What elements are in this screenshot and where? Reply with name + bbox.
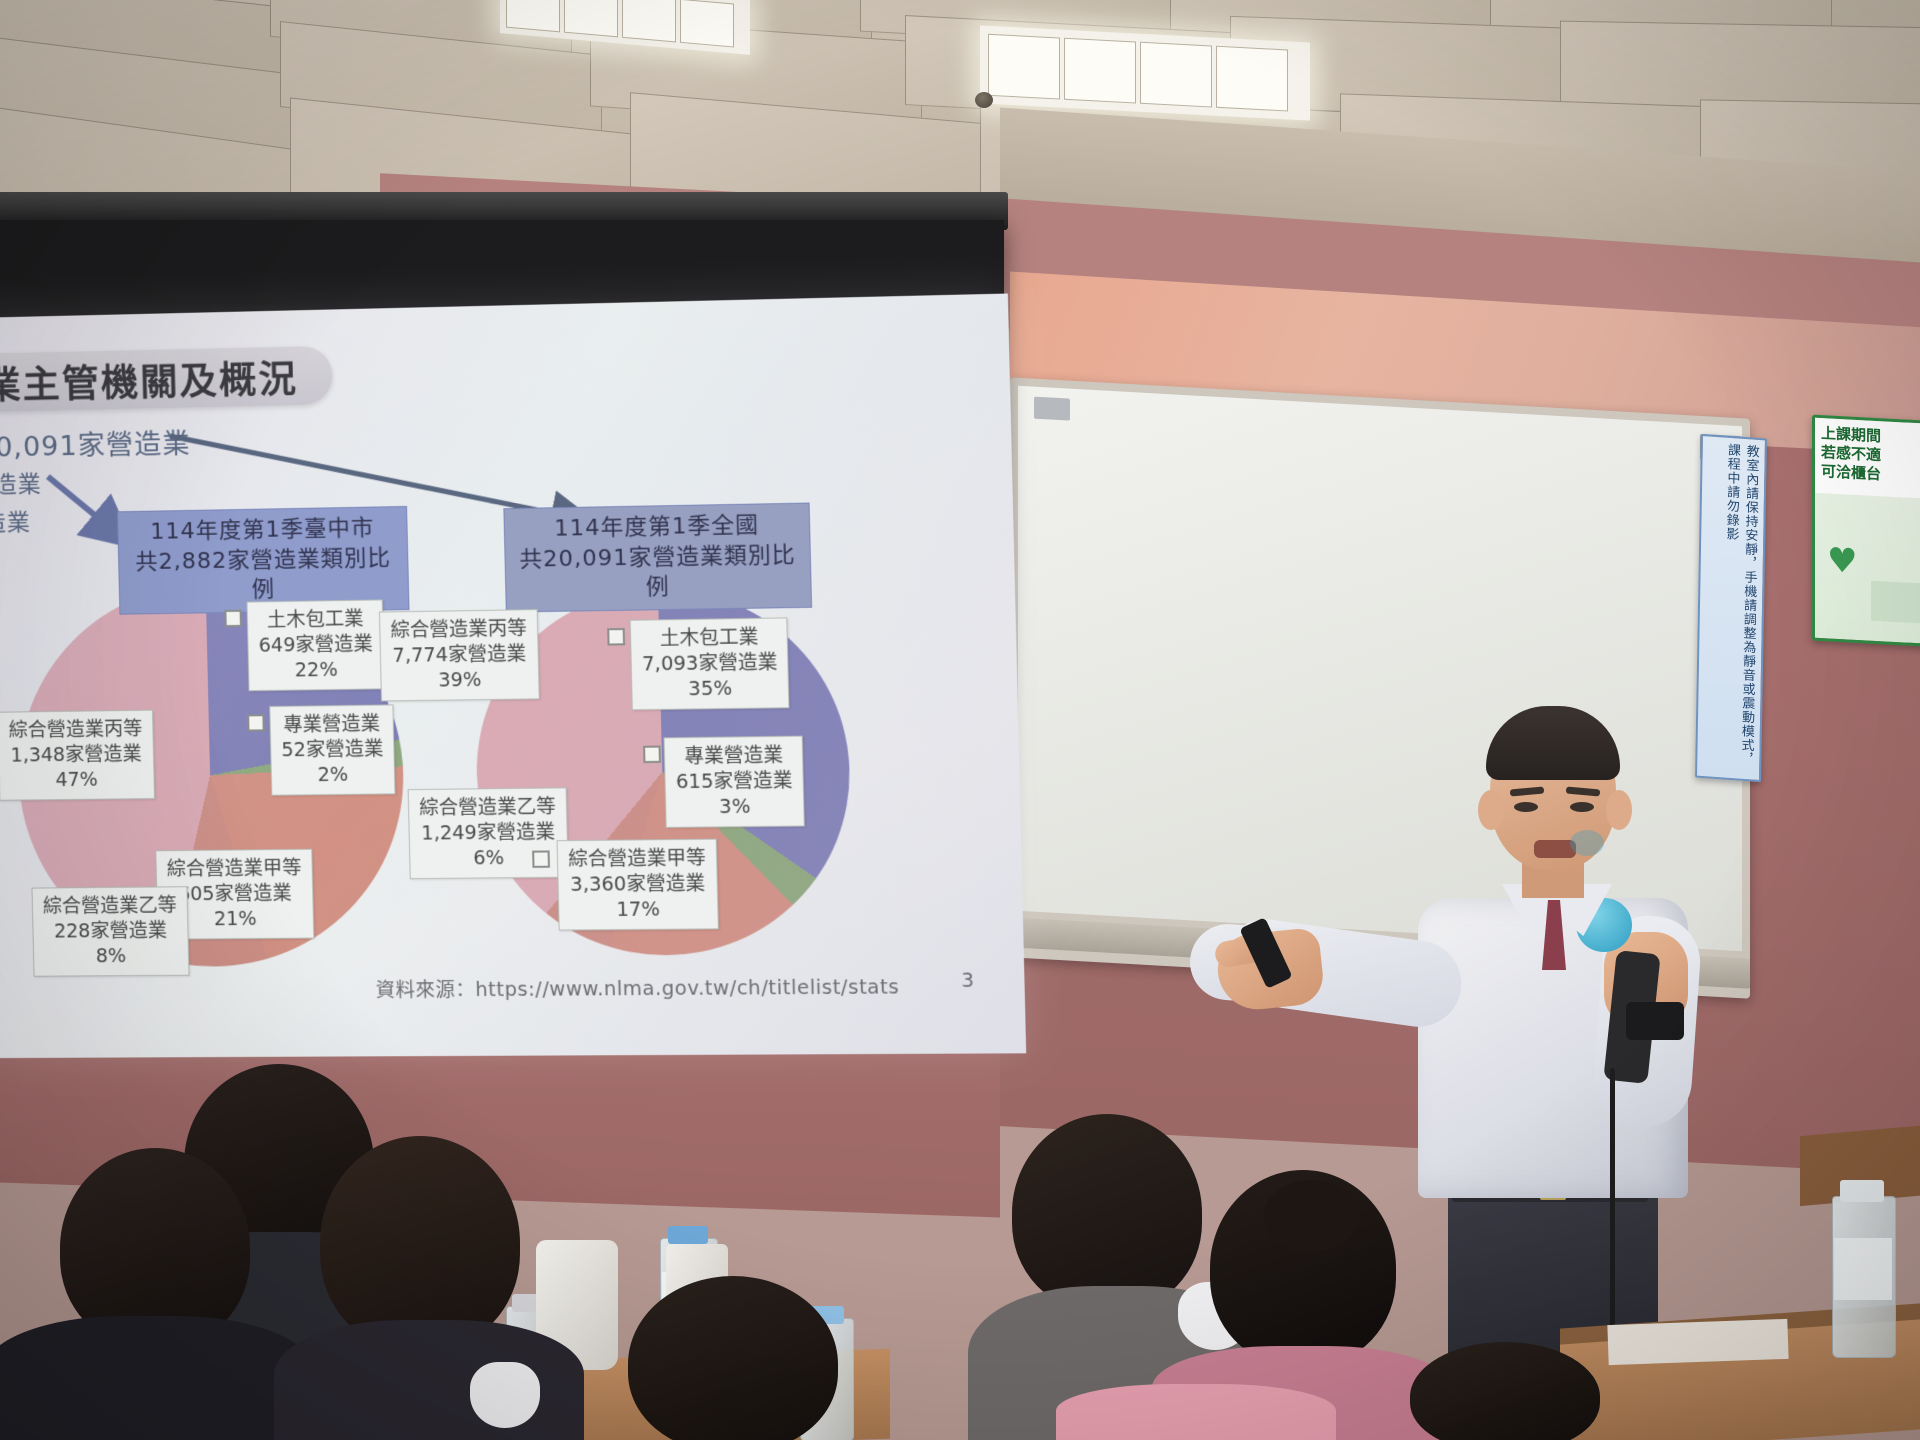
audience-hair-bun-6: [1264, 1180, 1360, 1252]
audience-mask-3: [470, 1362, 540, 1428]
audience-head-3: [320, 1136, 520, 1350]
desk-paper: [1607, 1319, 1788, 1365]
audience-head-5: [1012, 1114, 1202, 1312]
audience: [0, 0, 1920, 1440]
audience-head-4: [628, 1276, 838, 1440]
water-bottle-4-cap: [1840, 1180, 1884, 1202]
screenshot-root: 教室內請保持安靜，手機請調整為靜音或震動模式，課程中請勿錄影 上課期間 若感不適…: [0, 0, 1920, 1440]
water-bottle-1-cap: [668, 1226, 708, 1244]
audience-body-2: [0, 1316, 314, 1440]
water-bottle-4-label: [1834, 1238, 1892, 1300]
audience-body-7: [1056, 1384, 1336, 1440]
